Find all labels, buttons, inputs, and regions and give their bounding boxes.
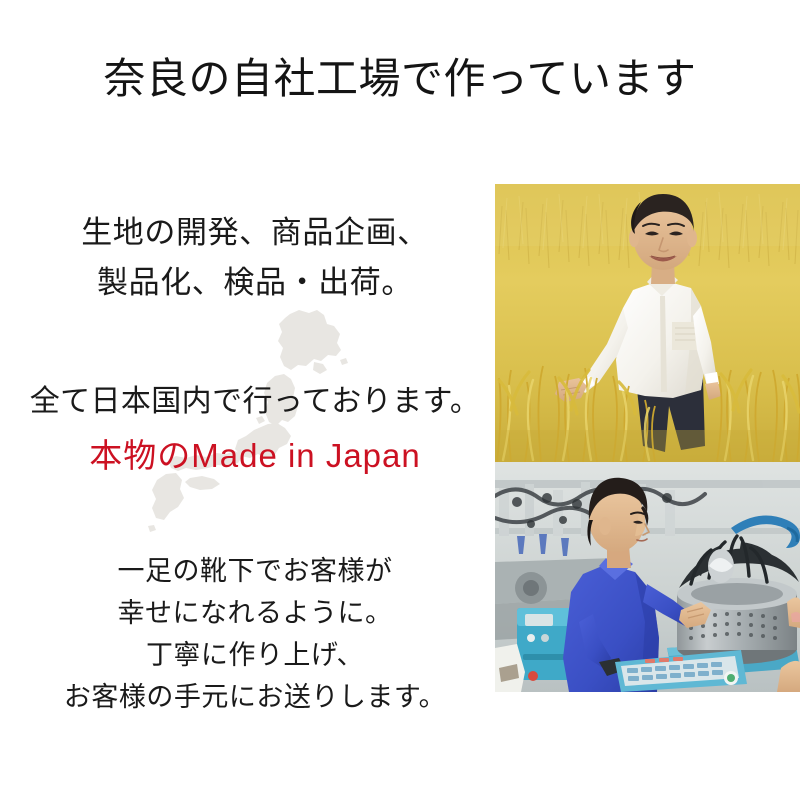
made-in-japan-headline: 本物のMade in Japan bbox=[10, 430, 500, 482]
process-text-block: 生地の開発、商品企画、 製品化、検品・出荷。 bbox=[10, 208, 500, 308]
knitting-factory-photo bbox=[495, 462, 800, 692]
domestic-production-line: 全て日本国内で行っております。 bbox=[10, 378, 500, 426]
message-text-block: 一足の靴下でお客様が 幸せになれるように。 丁寧に作り上げ、 お客様の手元にお送… bbox=[10, 550, 500, 718]
message-line-3: 丁寧に作り上げ、 bbox=[10, 634, 500, 676]
text-column: 生地の開発、商品企画、 製品化、検品・出荷。 全て日本国内で行っております。 本… bbox=[10, 150, 500, 710]
process-line-1: 生地の開発、商品企画、 bbox=[10, 208, 500, 258]
photo-column bbox=[495, 184, 800, 692]
page-title: 奈良の自社工場で作っています bbox=[0, 56, 800, 106]
message-line-2: 幸せになれるように。 bbox=[10, 592, 500, 634]
domestic-text-block: 全て日本国内で行っております。 本物のMade in Japan bbox=[10, 378, 500, 482]
message-line-4: お客様の手元にお送りします。 bbox=[10, 676, 500, 718]
process-line-2: 製品化、検品・出荷。 bbox=[10, 258, 500, 308]
message-line-1: 一足の靴下でお客様が bbox=[10, 550, 500, 592]
rice-field-photo bbox=[495, 184, 800, 462]
promo-panel: 奈良の自社工場で作っています bbox=[0, 0, 800, 800]
